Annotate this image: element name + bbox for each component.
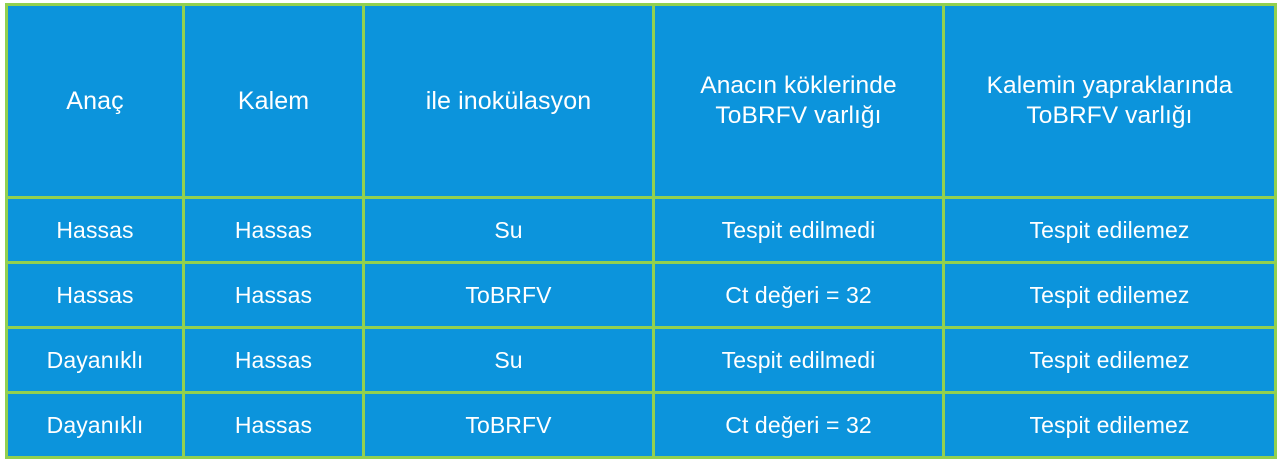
- cell-root-presence-value: Ct değeri = 32: [659, 411, 938, 439]
- column-header-root-presence-label: Anacın köklerinde ToBRFV varlığı: [659, 71, 938, 131]
- table-row: Hassas Hassas Su Tespit edilmedi Tespit …: [7, 198, 1276, 263]
- column-header-leaf-presence: Kalemin yapraklarında ToBRFV varlığı: [944, 5, 1276, 198]
- column-header-inoculation: ile inokülasyon: [364, 5, 654, 198]
- cell-scion: Hassas: [184, 263, 364, 328]
- cell-root-presence: Ct değeri = 32: [654, 263, 944, 328]
- table-row: Dayanıklı Hassas ToBRFV Ct değeri = 32 T…: [7, 393, 1276, 458]
- cell-scion-value: Hassas: [189, 411, 358, 439]
- cell-root-presence: Tespit edilmedi: [654, 328, 944, 393]
- cell-leaf-presence-value: Tespit edilemez: [949, 411, 1270, 439]
- column-header-inoculation-label: ile inokülasyon: [369, 86, 648, 117]
- cell-rootstock-value: Hassas: [12, 281, 178, 309]
- cell-inoculation: Su: [364, 198, 654, 263]
- cell-root-presence-value: Tespit edilmedi: [659, 216, 938, 244]
- cell-leaf-presence: Tespit edilemez: [944, 393, 1276, 458]
- cell-inoculation-value: ToBRFV: [369, 411, 648, 439]
- cell-rootstock: Dayanıklı: [7, 328, 184, 393]
- cell-leaf-presence-value: Tespit edilemez: [949, 281, 1270, 309]
- table-row: Dayanıklı Hassas Su Tespit edilmedi Tesp…: [7, 328, 1276, 393]
- cell-rootstock: Dayanıklı: [7, 393, 184, 458]
- cell-leaf-presence-value: Tespit edilemez: [949, 216, 1270, 244]
- cell-root-presence: Tespit edilmedi: [654, 198, 944, 263]
- cell-leaf-presence: Tespit edilemez: [944, 328, 1276, 393]
- column-header-scion-label: Kalem: [189, 86, 358, 117]
- cell-rootstock-value: Hassas: [12, 216, 178, 244]
- cell-scion-value: Hassas: [189, 281, 358, 309]
- cell-root-presence-value: Tespit edilmedi: [659, 346, 938, 374]
- cell-rootstock-value: Dayanıklı: [12, 346, 178, 374]
- cell-rootstock-value: Dayanıklı: [12, 411, 178, 439]
- table-row: Hassas Hassas ToBRFV Ct değeri = 32 Tesp…: [7, 263, 1276, 328]
- column-header-rootstock: Anaç: [7, 5, 184, 198]
- column-header-rootstock-label: Anaç: [12, 86, 178, 117]
- cell-scion-value: Hassas: [189, 216, 358, 244]
- cell-inoculation-value: ToBRFV: [369, 281, 648, 309]
- cell-rootstock: Hassas: [7, 198, 184, 263]
- cell-leaf-presence-value: Tespit edilemez: [949, 346, 1270, 374]
- cell-scion: Hassas: [184, 328, 364, 393]
- cell-inoculation-value: Su: [369, 346, 648, 374]
- tobrfv-results-table: Anaç Kalem ile inokülasyon Anacın kökler…: [5, 3, 1277, 459]
- cell-inoculation-value: Su: [369, 216, 648, 244]
- cell-scion: Hassas: [184, 393, 364, 458]
- cell-inoculation: ToBRFV: [364, 393, 654, 458]
- cell-rootstock: Hassas: [7, 263, 184, 328]
- column-header-root-presence: Anacın köklerinde ToBRFV varlığı: [654, 5, 944, 198]
- table-header-row: Anaç Kalem ile inokülasyon Anacın kökler…: [7, 5, 1276, 198]
- cell-leaf-presence: Tespit edilemez: [944, 198, 1276, 263]
- column-header-scion: Kalem: [184, 5, 364, 198]
- cell-inoculation: Su: [364, 328, 654, 393]
- cell-scion: Hassas: [184, 198, 364, 263]
- cell-inoculation: ToBRFV: [364, 263, 654, 328]
- page-canvas: Anaç Kalem ile inokülasyon Anacın kökler…: [0, 0, 1280, 462]
- cell-root-presence-value: Ct değeri = 32: [659, 281, 938, 309]
- cell-root-presence: Ct değeri = 32: [654, 393, 944, 458]
- cell-scion-value: Hassas: [189, 346, 358, 374]
- column-header-leaf-presence-label: Kalemin yapraklarında ToBRFV varlığı: [949, 71, 1270, 131]
- cell-leaf-presence: Tespit edilemez: [944, 263, 1276, 328]
